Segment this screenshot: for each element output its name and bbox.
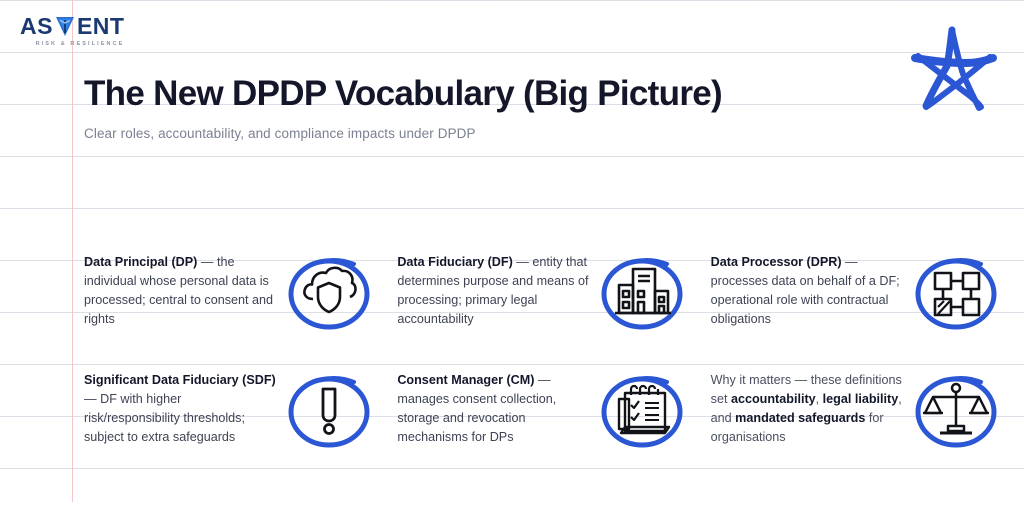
- shield-mark-icon: [54, 14, 76, 38]
- brand-logo: AS ENT RISK & RESILIENCE: [20, 14, 140, 47]
- cloud-shield-icon: [282, 245, 376, 339]
- office-building-icon: [595, 245, 689, 339]
- vocabulary-item: Significant Data Fiduciary (SDF) — DF wi…: [72, 363, 385, 481]
- item-text: Data Processor (DPR) — processes data on…: [699, 245, 907, 329]
- vocabulary-item: Data Principal (DP) — the individual who…: [72, 245, 385, 363]
- vocabulary-item: Data Fiduciary (DF) — entity that determ…: [385, 245, 698, 363]
- vocabulary-item: Data Processor (DPR) — processes data on…: [699, 245, 1012, 363]
- brand-tagline: RISK & RESILIENCE: [20, 41, 140, 47]
- scales-of-justice-icon: [909, 363, 1003, 457]
- page-title: The New DPDP Vocabulary (Big Picture): [84, 74, 722, 114]
- item-text: Why it matters — these definitions set a…: [699, 363, 907, 447]
- network-nodes-icon: [909, 245, 1003, 339]
- brand-name-part1: AS: [20, 15, 53, 38]
- item-text: Data Principal (DP) — the individual who…: [72, 245, 280, 329]
- page-subtitle: Clear roles, accountability, and complia…: [84, 126, 476, 141]
- item-text: Data Fiduciary (DF) — entity that determ…: [385, 245, 593, 329]
- vocabulary-item: Why it matters — these definitions set a…: [699, 363, 1012, 481]
- hand-drawn-star-icon: [906, 22, 1002, 120]
- brand-name-part2: ENT: [77, 15, 125, 38]
- vocabulary-item: Consent Manager (CM) — manages consent c…: [385, 363, 698, 481]
- item-text: Significant Data Fiduciary (SDF) — DF wi…: [72, 363, 280, 447]
- brand-wordmark: AS ENT: [20, 14, 140, 38]
- checklist-notepad-icon: [595, 363, 689, 457]
- item-text: Consent Manager (CM) — manages consent c…: [385, 363, 593, 447]
- exclamation-mark-icon: [282, 363, 376, 457]
- vocabulary-grid: Data Principal (DP) — the individual who…: [72, 245, 1012, 481]
